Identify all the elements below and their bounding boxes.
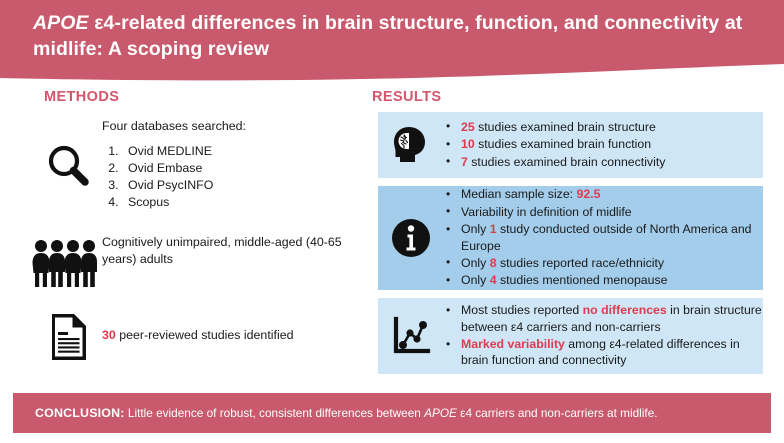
info-circle-icon bbox=[378, 216, 444, 260]
list-item: Ovid PsycINFO bbox=[122, 177, 246, 194]
title-gene-name: APOE bbox=[33, 12, 89, 34]
conclusion-label: CONCLUSION: bbox=[35, 406, 125, 420]
databases-intro-label: Four databases searched: bbox=[102, 118, 246, 135]
list-item: Only 1 study conducted outside of North … bbox=[444, 221, 763, 254]
conclusion-after: ε4 carriers and non-carriers at midlife. bbox=[457, 406, 658, 420]
methods-databases-text: Four databases searched: Ovid MEDLINE Ov… bbox=[102, 118, 246, 211]
line-chart-icon bbox=[378, 315, 444, 357]
title-remainder: ε4-related differences in brain structur… bbox=[33, 12, 742, 60]
list-item: Variability in definition of midlife bbox=[444, 204, 763, 220]
list-item: Scopus bbox=[122, 194, 246, 211]
list-item: 7 studies examined brain connectivity bbox=[444, 154, 665, 170]
magnifying-glass-icon bbox=[36, 118, 102, 190]
conclusion-banner: CONCLUSION: Little evidence of robust, c… bbox=[13, 393, 771, 433]
list-item: Marked variability among ε4-related diff… bbox=[444, 336, 763, 369]
list-item: Ovid MEDLINE bbox=[122, 143, 246, 160]
list-item: Most studies reported no differences in … bbox=[444, 302, 763, 335]
list-item: Only 4 studies mentioned menopause bbox=[444, 272, 763, 288]
document-icon bbox=[36, 311, 102, 363]
list-item: 10 studies examined brain function bbox=[444, 136, 665, 152]
page-title: APOE ε4-related differences in brain str… bbox=[33, 10, 753, 62]
results-list-2: Median sample size: 92.5 Variability in … bbox=[444, 186, 763, 289]
conclusion-gene-name: APOE bbox=[424, 406, 457, 420]
results-list-3: Most studies reported no differences in … bbox=[444, 302, 763, 370]
list-item: Median sample size: 92.5 bbox=[444, 186, 763, 202]
methods-databases-row: Four databases searched: Ovid MEDLINE Ov… bbox=[36, 118, 356, 211]
methods-population-row: Cognitively unimpaired, middle-aged (40-… bbox=[28, 234, 358, 290]
studies-count: 30 bbox=[102, 328, 116, 342]
conclusion-text: CONCLUSION: Little evidence of robust, c… bbox=[13, 406, 658, 421]
databases-list: Ovid MEDLINE Ovid Embase Ovid PsycINFO S… bbox=[102, 143, 246, 212]
results-box-study-characteristics: Median sample size: 92.5 Variability in … bbox=[378, 186, 763, 290]
list-item: Ovid Embase bbox=[122, 160, 246, 177]
list-item: 25 studies examined brain structure bbox=[444, 119, 665, 135]
results-box-findings: Most studies reported no differences in … bbox=[378, 298, 763, 374]
methods-studies-text: 30 peer-reviewed studies identified bbox=[102, 311, 294, 344]
list-item: Only 8 studies reported race/ethnicity bbox=[444, 255, 763, 271]
methods-studies-row: 30 peer-reviewed studies identified bbox=[36, 311, 366, 363]
methods-heading: METHODS bbox=[44, 89, 119, 105]
header-banner: APOE ε4-related differences in brain str… bbox=[0, 0, 784, 86]
results-box-brain-measures: 25 studies examined brain structure 10 s… bbox=[378, 112, 763, 178]
results-heading: RESULTS bbox=[372, 89, 441, 105]
head-brain-icon bbox=[378, 124, 444, 166]
conclusion-before: Little evidence of robust, consistent di… bbox=[125, 406, 424, 420]
people-group-icon bbox=[28, 234, 102, 290]
results-list-1: 25 studies examined brain structure 10 s… bbox=[444, 119, 665, 171]
studies-label: peer-reviewed studies identified bbox=[116, 328, 294, 342]
methods-population-text: Cognitively unimpaired, middle-aged (40-… bbox=[102, 234, 358, 267]
